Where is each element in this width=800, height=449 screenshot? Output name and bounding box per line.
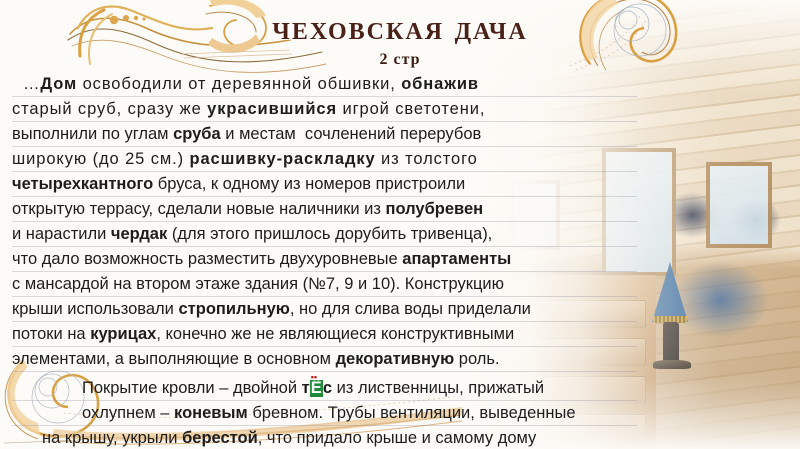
yo-highlight: Ё	[310, 380, 323, 397]
text-line: и нарастили чердак (для этого пришлось д…	[12, 222, 637, 247]
text-line: широкую (до 25 см.) расшивку-раскладку и…	[12, 147, 637, 172]
header: Чеховская дача 2 стр	[0, 0, 800, 72]
text-line: элементами, а выполняющие в основном дек…	[12, 347, 637, 372]
text-line: на крышу, укрыли берестой, что придало к…	[12, 426, 637, 449]
text-line: выполнили по углам сруба и местам сочлен…	[12, 122, 637, 147]
page-number-label: 2 стр	[0, 51, 800, 69]
text-line: открытую террасу, сделали новые наличник…	[12, 197, 637, 222]
slide-root: Чеховская дача 2 стр …Дом освободили от …	[0, 0, 800, 449]
text-line: что дало возможность разместить двухуров…	[12, 247, 637, 272]
page-title: Чеховская дача	[0, 10, 800, 48]
article-body: …Дом освободили от деревянной обшивки, о…	[12, 72, 637, 449]
text-line: Покрытие кровли – двойной тЁс из листвен…	[12, 376, 637, 401]
text-line: с мансардой на втором этаже здания (№7, …	[12, 272, 637, 297]
text-line: крыши использовали стропильную, но для с…	[12, 297, 637, 322]
text-line: охлупнем – коневым бревном. Трубы вентил…	[12, 401, 637, 426]
text-line: потоки на курицах, конечно же не являющи…	[12, 322, 637, 347]
text-line: …Дом освободили от деревянной обшивки, о…	[12, 72, 637, 97]
text-line: старый сруб, сразу же украсившийся игрой…	[12, 97, 637, 122]
text-line: четырехкантного бруса, к одному из номер…	[12, 172, 637, 197]
